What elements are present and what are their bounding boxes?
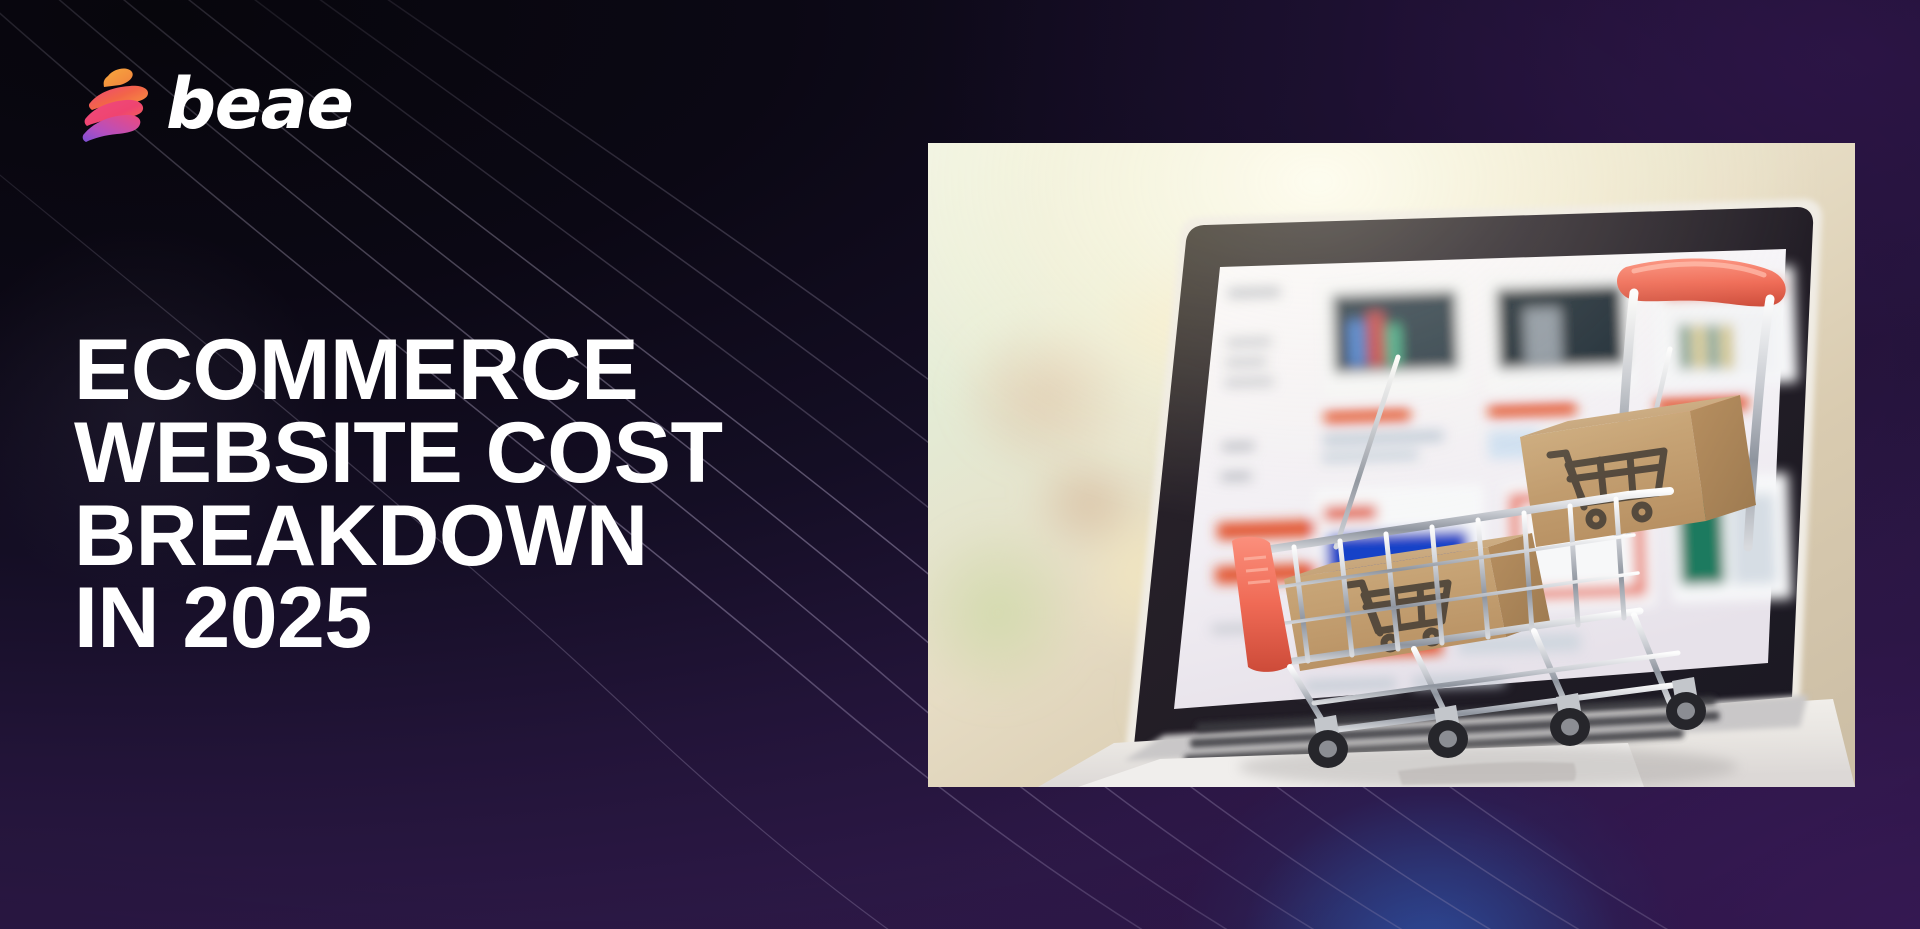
blog-banner: beae ECOMMERCE WEBSITE COST BREAKDOWN IN… [0, 0, 1920, 929]
page-title: ECOMMERCE WEBSITE COST BREAKDOWN IN 2025 [74, 329, 894, 659]
beae-ribbon-mark-icon [78, 58, 152, 144]
headline-line-2: WEBSITE COST [74, 412, 894, 495]
brand-logo[interactable]: beae [78, 58, 352, 144]
headline-line-4: IN 2025 [74, 577, 894, 660]
headline-line-3: BREAKDOWN [74, 495, 894, 578]
brand-wordmark: beae [166, 69, 352, 139]
headline-line-1: ECOMMERCE [74, 329, 894, 412]
hero-photo [928, 143, 1855, 787]
ecommerce-laptop-cart-photo [928, 143, 1855, 787]
